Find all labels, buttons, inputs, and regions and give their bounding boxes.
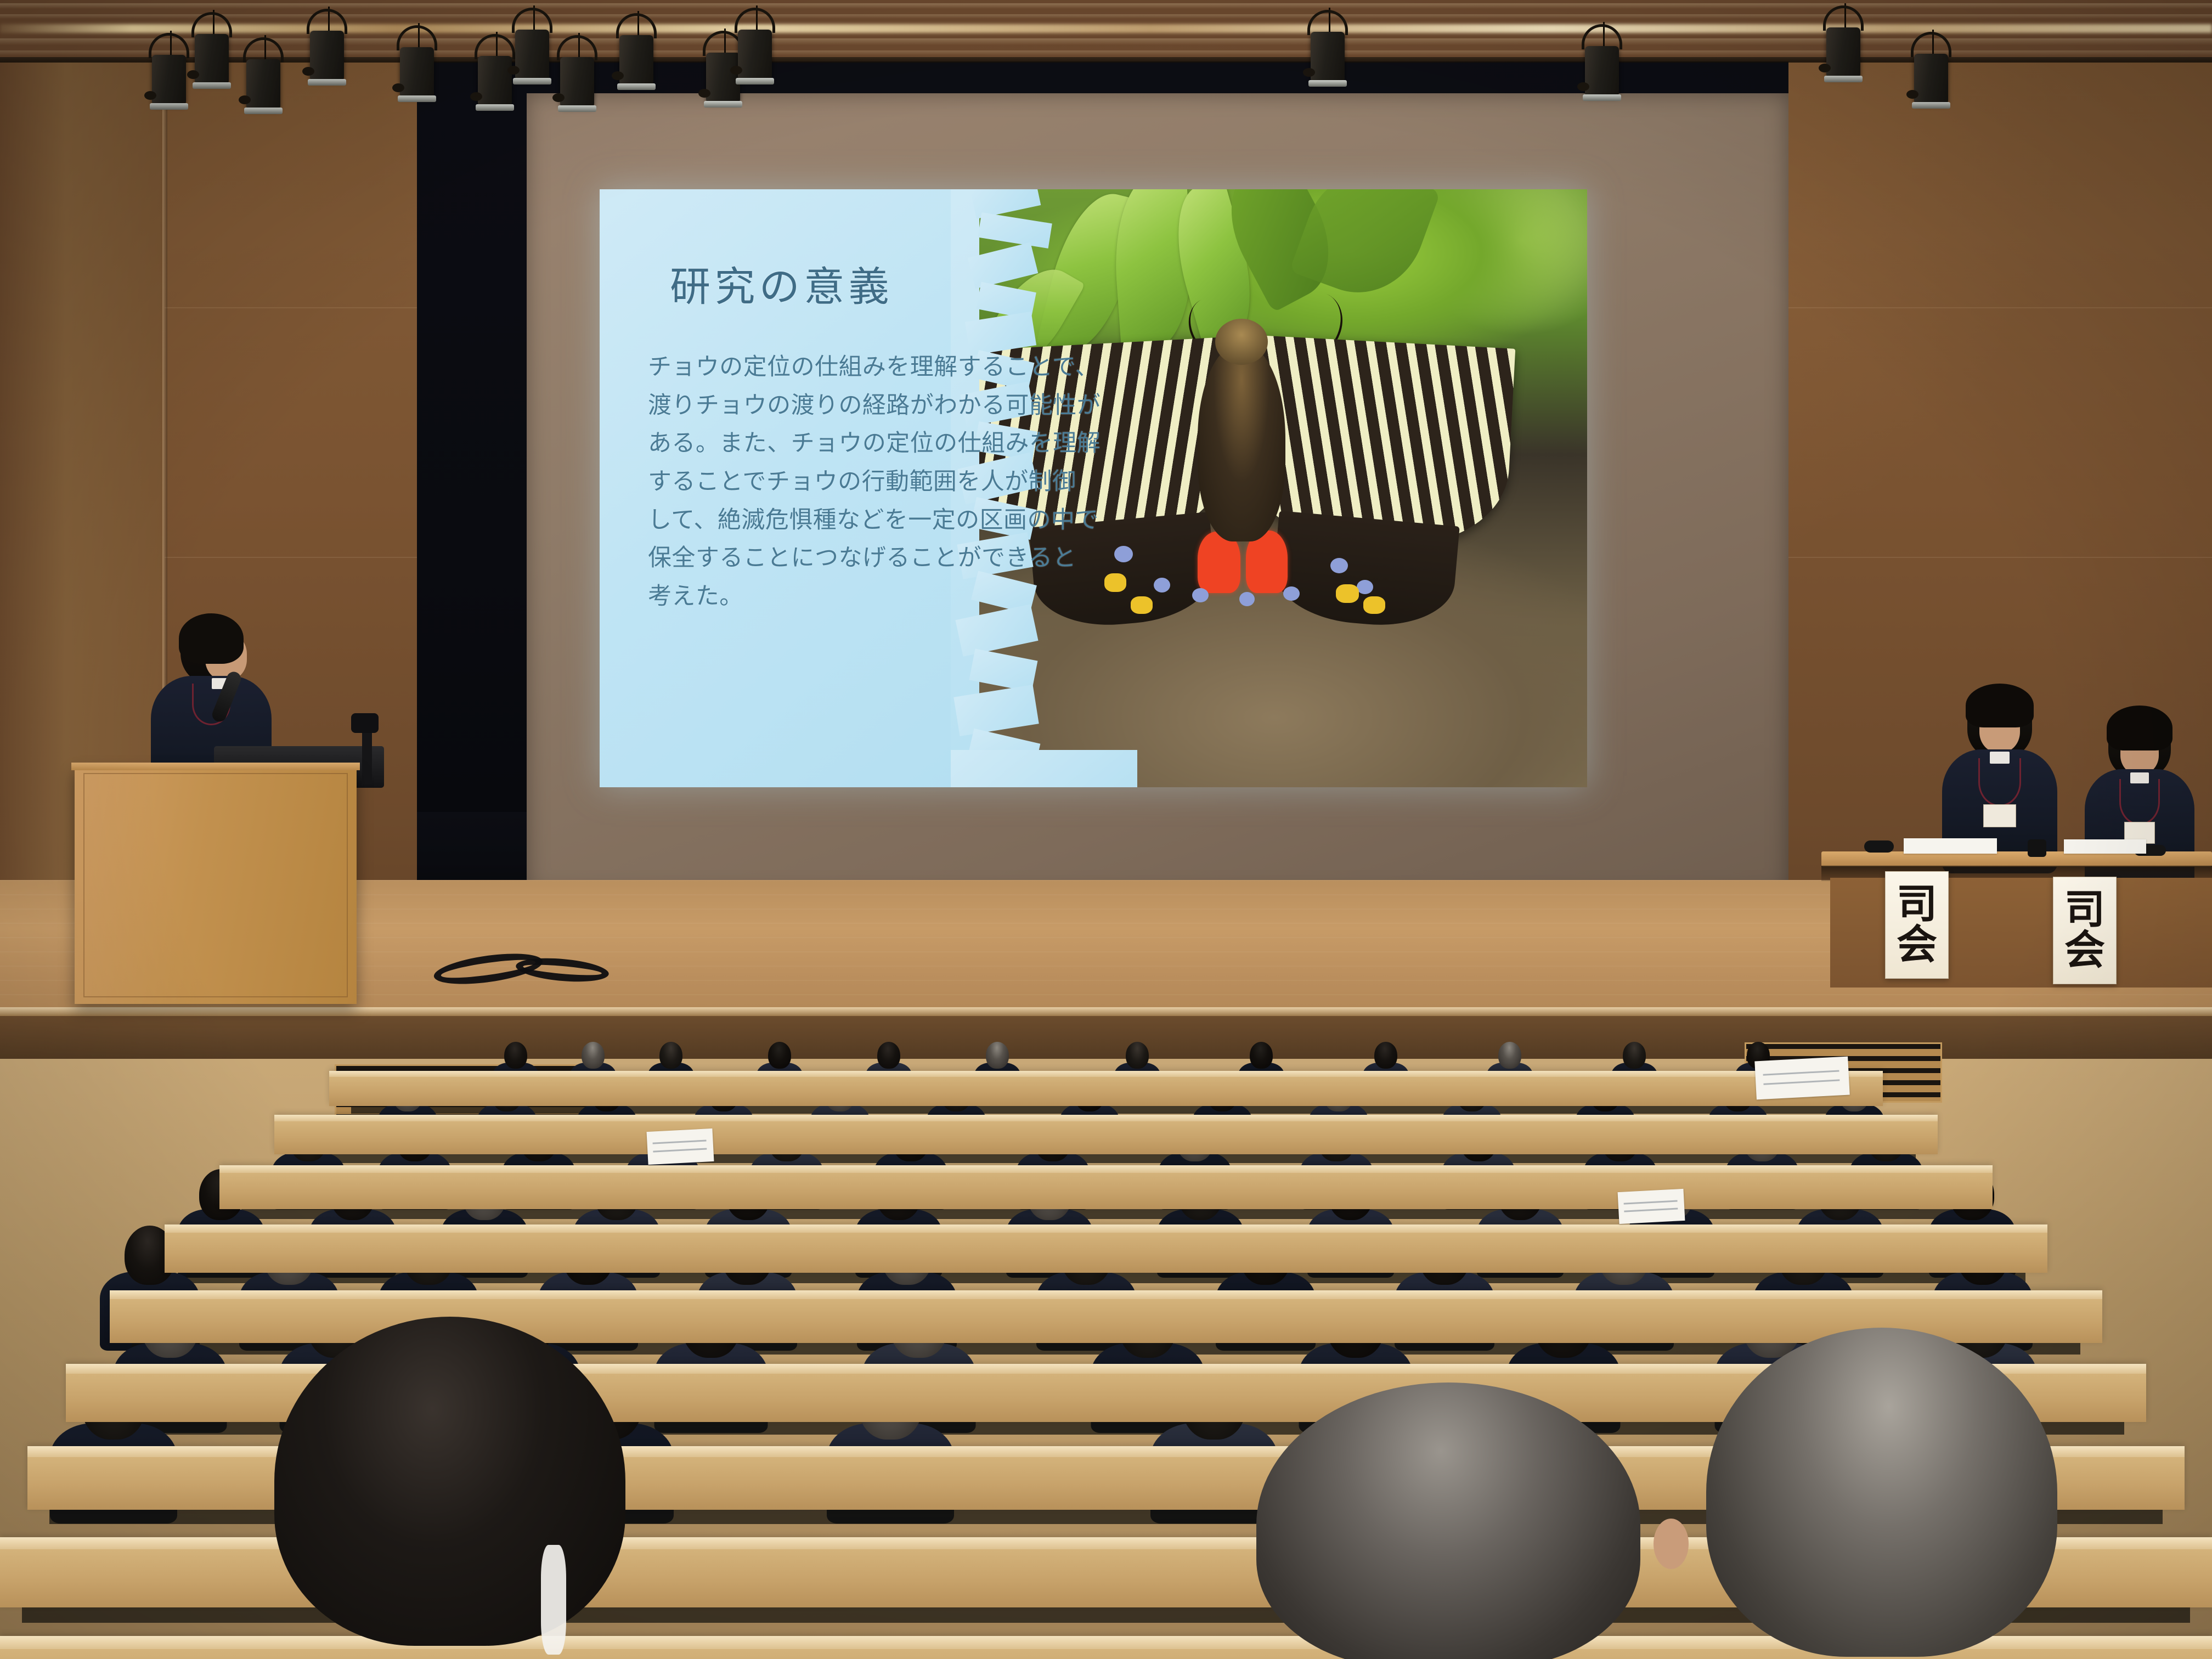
- light-lens: [308, 79, 346, 86]
- podium: [75, 766, 357, 1004]
- gooseneck-mic-stand: [362, 724, 372, 785]
- moderator-sign-left: 司 会: [1885, 871, 1949, 979]
- butterfly-blue-spot: [1192, 588, 1209, 602]
- audience-member-head: [877, 1042, 900, 1069]
- audience-member-head: [1250, 1042, 1273, 1069]
- light-lens: [617, 83, 656, 90]
- foreground-attendee-right-head: [1706, 1328, 2057, 1657]
- slide-body-line: ある。また、チョウの定位の仕組みを理解: [648, 425, 1021, 463]
- bench-top-rail: [274, 1115, 1938, 1121]
- light-knob: [1906, 90, 1918, 99]
- stage-spotlight: [1306, 10, 1350, 92]
- butterfly-yellow-spot: [1104, 573, 1126, 592]
- light-knob: [392, 83, 404, 92]
- light-knob: [1577, 82, 1589, 91]
- moderator-right-hair-top: [2107, 706, 2172, 751]
- moderator-sign-left-char-top: 司: [1897, 884, 1937, 925]
- light-lens: [1308, 80, 1347, 87]
- slide-body-line: 渡りチョウの渡りの経路がわかる可能性が: [648, 387, 1021, 425]
- butterfly-yellow-spot: [1336, 584, 1359, 603]
- light-knob: [144, 91, 156, 100]
- light-body: [478, 56, 512, 106]
- foreground-attendee-right-ear: [1654, 1519, 1689, 1569]
- light-body: [1914, 54, 1948, 104]
- audience-member-head: [1126, 1042, 1149, 1069]
- handout-paper: [1754, 1057, 1849, 1100]
- butterfly-blue-spot: [1330, 558, 1348, 573]
- light-knob: [302, 67, 314, 76]
- light-body: [310, 31, 344, 81]
- stage-spotlight: [614, 13, 658, 95]
- ceiling-slat: [0, 3, 2212, 9]
- bench-top-rail: [219, 1165, 1993, 1173]
- light-body: [152, 55, 186, 105]
- stage-spotlight: [305, 9, 349, 91]
- handout-paper: [647, 1128, 714, 1165]
- stage-spotlight: [1909, 32, 1953, 114]
- moderator-left-lanyard: [1978, 758, 2021, 806]
- light-knob: [1303, 68, 1315, 77]
- moderator-sign-right-char-bottom: 会: [2064, 930, 2105, 971]
- foreground-attendee-center: [1223, 1383, 1673, 1659]
- light-body: [246, 59, 280, 110]
- slide-body-line: 保全することにつなげることができると: [648, 539, 1021, 578]
- foreground-attendee-center-head: [1256, 1383, 1640, 1659]
- audience-member-head: [659, 1042, 682, 1069]
- stage-spotlight: [1821, 5, 1865, 88]
- podium-inset-panel: [83, 773, 348, 997]
- stage-spotlight: [241, 37, 285, 120]
- light-lens: [558, 105, 596, 112]
- butterfly-blue-spot: [1283, 586, 1300, 601]
- light-lens: [1824, 76, 1863, 82]
- butterfly-head: [1215, 319, 1268, 365]
- butterfly-blue-spot: [1357, 580, 1373, 594]
- light-knob: [698, 89, 710, 98]
- table-papers: [2064, 839, 2146, 854]
- moderator-sign-left-char-bottom: 会: [1897, 925, 1937, 966]
- face-mask-strap: [541, 1545, 566, 1655]
- light-knob: [187, 70, 199, 79]
- moderator-right-lanyard: [2119, 779, 2160, 825]
- slide-body-line: チョウの定位の仕組みを理解することで、: [648, 348, 1021, 387]
- audience-member-head: [1623, 1042, 1646, 1069]
- butterfly-yellow-spot: [1131, 596, 1153, 614]
- stage-spotlight: [395, 25, 439, 108]
- light-body: [1311, 32, 1345, 82]
- stage-edge-nosing: [0, 1007, 2212, 1016]
- audience-member-head: [1498, 1042, 1521, 1069]
- light-knob: [612, 71, 624, 80]
- stage-spotlight: [510, 8, 554, 90]
- butterfly-blue-spot: [1239, 592, 1255, 606]
- slide-body-text: チョウの定位の仕組みを理解することで、渡りチョウの渡りの経路がわかる可能性がある…: [648, 348, 1021, 616]
- butterfly-blue-spot: [1114, 546, 1133, 562]
- moderator-left-name-badge: [1983, 804, 2016, 827]
- light-lens: [476, 104, 514, 111]
- light-knob: [552, 93, 565, 102]
- stage-spotlight: [190, 12, 234, 94]
- foreground-attendee-left-head: [274, 1317, 625, 1646]
- photo-torn-edge: [951, 750, 1137, 787]
- light-lens: [398, 95, 436, 102]
- light-body: [400, 47, 434, 98]
- light-lens: [1583, 94, 1621, 101]
- moderator-sign-right-char-top: 司: [2064, 890, 2105, 930]
- light-body: [619, 35, 653, 86]
- light-knob: [1819, 64, 1831, 72]
- stage-spotlight: [1580, 24, 1624, 106]
- light-knob: [730, 66, 742, 75]
- light-lens: [150, 103, 188, 110]
- handout-paper: [1618, 1189, 1685, 1224]
- light-lens: [193, 82, 231, 89]
- slide-body-line: することでチョウの行動範囲を人が制御: [648, 463, 1021, 501]
- light-body: [1826, 27, 1860, 78]
- light-body: [515, 30, 549, 80]
- moderator-left-hair-top: [1966, 684, 2034, 727]
- audience-member-head: [1374, 1042, 1397, 1069]
- foreground-attendee-right: [1673, 1328, 2090, 1659]
- stage-spotlight: [147, 33, 191, 115]
- stage-spotlight: [733, 8, 777, 90]
- light-lens: [1912, 102, 1950, 109]
- light-knob: [507, 66, 520, 75]
- bench-top-rail: [329, 1071, 1883, 1077]
- slide-body-line: して、絶滅危惧種などを一定の区画の中で: [648, 501, 1021, 540]
- light-body: [738, 30, 772, 80]
- slide-title: 研究の意義: [670, 254, 893, 313]
- bench-top-rail: [110, 1290, 2102, 1299]
- butterfly-yellow-spot: [1363, 596, 1385, 614]
- light-body: [1585, 46, 1619, 97]
- audience-member-head: [582, 1042, 605, 1069]
- audience-member-head: [768, 1042, 791, 1069]
- presenter-hair: [179, 613, 244, 664]
- table-papers: [1904, 838, 1997, 854]
- light-knob: [470, 92, 482, 101]
- audience-member-head: [504, 1042, 527, 1069]
- table-microphone-stand: [2028, 839, 2046, 857]
- table-microphone: [1864, 840, 1894, 853]
- light-lens: [244, 108, 283, 114]
- light-body: [560, 57, 594, 108]
- stage-spotlight: [555, 35, 599, 117]
- audience-member-head: [986, 1042, 1009, 1069]
- light-body: [195, 34, 229, 84]
- moderator-sign-right: 司 会: [2053, 877, 2117, 984]
- butterfly-blue-spot: [1154, 578, 1170, 592]
- projected-slide: 研究の意義 チョウの定位の仕組みを理解することで、渡りチョウの渡りの経路がわかる…: [600, 189, 1587, 787]
- butterfly-body: [1198, 344, 1285, 541]
- butterfly-right-hindwing: [1270, 511, 1459, 631]
- slide-body-line: 考えた。: [648, 578, 1021, 616]
- light-lens: [736, 78, 774, 84]
- foreground-attendee-left: [236, 1317, 664, 1659]
- gooseneck-mic-head: [351, 713, 379, 733]
- light-lens: [513, 78, 551, 84]
- auditorium-scene: 研究の意義 チョウの定位の仕組みを理解することで、渡りチョウの渡りの経路がわかる…: [0, 0, 2212, 1659]
- bench-top-rail: [165, 1224, 2047, 1233]
- light-lens: [704, 101, 742, 108]
- podium-top-surface: [71, 763, 360, 770]
- light-knob: [239, 95, 251, 104]
